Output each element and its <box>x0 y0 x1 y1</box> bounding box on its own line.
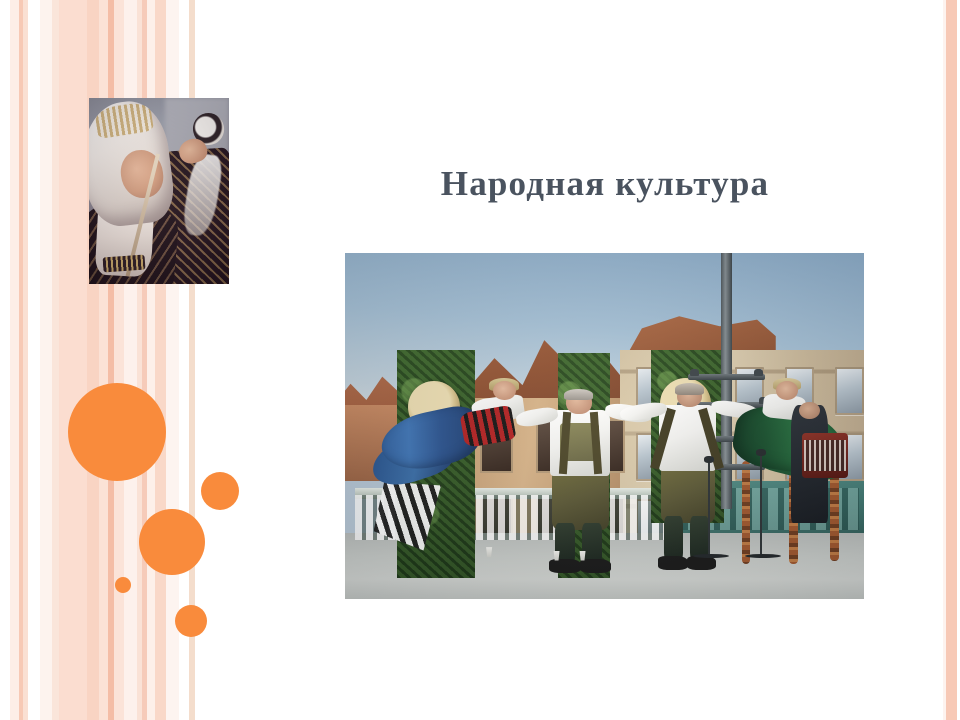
mic-base-2 <box>745 554 781 558</box>
dancer-centre-left-shoe <box>549 559 580 573</box>
circle-large <box>68 383 166 481</box>
dancer-right-hair <box>675 383 704 395</box>
woman-spinning-photo <box>89 98 229 284</box>
right-stripe-2 <box>946 0 957 720</box>
dancer-centre-hair <box>564 389 593 400</box>
dancer-right-left-sock <box>664 516 684 561</box>
stripe-2 <box>19 0 23 720</box>
dancer-left-head <box>493 381 516 400</box>
dancer-centre-right-shoe <box>580 559 611 573</box>
utility-pole <box>721 253 732 509</box>
circle-small-bottom <box>175 605 207 637</box>
stripe-5 <box>40 0 52 720</box>
dancer-right-lederhosen <box>661 464 715 523</box>
mic-base-1 <box>693 554 729 558</box>
stripe-4 <box>28 0 40 720</box>
mic-stand-2 <box>760 454 762 558</box>
dancer-far-right-head <box>776 381 798 400</box>
folk-dancers-photo <box>345 253 864 599</box>
wrist-band <box>103 255 146 273</box>
mic-stand-1 <box>708 461 710 558</box>
dancer-centre-lederhosen <box>552 468 609 530</box>
accordion-player-head <box>799 402 820 419</box>
accordion-bellows <box>804 440 846 471</box>
slide-canvas: Народная культура <box>0 0 960 720</box>
pole-bracket-1 <box>688 374 766 380</box>
stripe-7 <box>59 0 87 720</box>
circle-medium <box>139 509 205 575</box>
stripe-1 <box>10 0 19 720</box>
dancer-centre-right-sock <box>582 523 603 565</box>
slide-title: Народная культура <box>345 164 865 204</box>
right-stripe-1 <box>943 0 946 720</box>
garland-pole-2 <box>742 461 750 565</box>
stripe-6 <box>52 0 59 720</box>
circle-small-right <box>201 472 239 510</box>
stripe-3 <box>23 0 28 720</box>
circle-tiny <box>115 577 131 593</box>
dancer-right-left-shoe <box>658 556 687 570</box>
